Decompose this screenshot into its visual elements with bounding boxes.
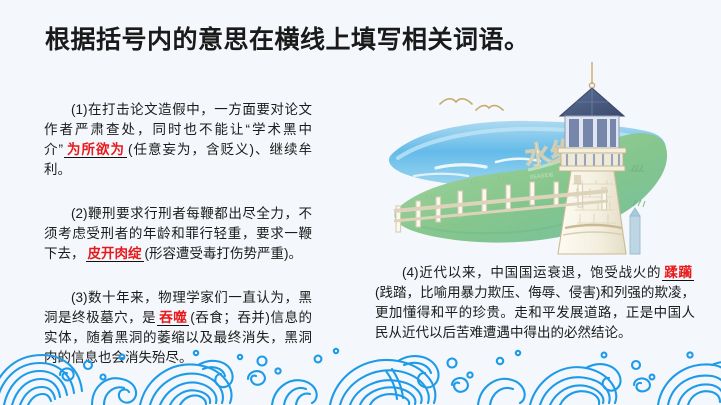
question-2-number: (2) [71, 206, 88, 221]
question-1: (1)在打击论文造假中，一方面要对论文作者严肃查处，同时也不能让“学术黑中介”为… [44, 100, 312, 180]
slide-canvas: 根据括号内的意思在横线上填写相关词语。 [0, 0, 721, 405]
question-4: (4)近代以来，中国国运衰退，饱受战火的蹂躏(践踏，比喻用暴力欺压、侮辱、侵害)… [375, 263, 695, 343]
question-3-number: (3) [71, 290, 88, 305]
question-4-answer[interactable]: 蹂躏 [662, 265, 694, 281]
lighthouse-illustration: 水缘 SEASIDE [378, 58, 708, 263]
question-3-answer[interactable]: 吞噬 [157, 310, 189, 326]
seagull-icon [440, 99, 503, 110]
question-2-answer[interactable]: 皮开肉绽 [86, 246, 144, 262]
question-1-number: (1) [71, 102, 88, 117]
question-4-text-before: 近代以来，中国国运衰退，饱受战火的 [419, 265, 662, 280]
question-2-text-after: (形容遭受毒打伤势严重)。 [145, 246, 303, 261]
question-2: (2)鞭刑要求行刑者每鞭都出尽全力，不须考虑受刑者的年龄和罪行轻重，要求一鞭下去… [44, 204, 312, 264]
question-1-answer[interactable]: 为所欲为 [64, 142, 127, 158]
page-title: 根据括号内的意思在横线上填写相关词语。 [45, 25, 530, 56]
question-4-text-after: (践踏，比喻用暴力欺压、侮辱、侵害)和列强的欺凌，更加懂得和平的珍贵。走和平发展… [375, 285, 695, 340]
wave-decoration [0, 335, 721, 405]
question-4-number: (4) [402, 265, 419, 280]
